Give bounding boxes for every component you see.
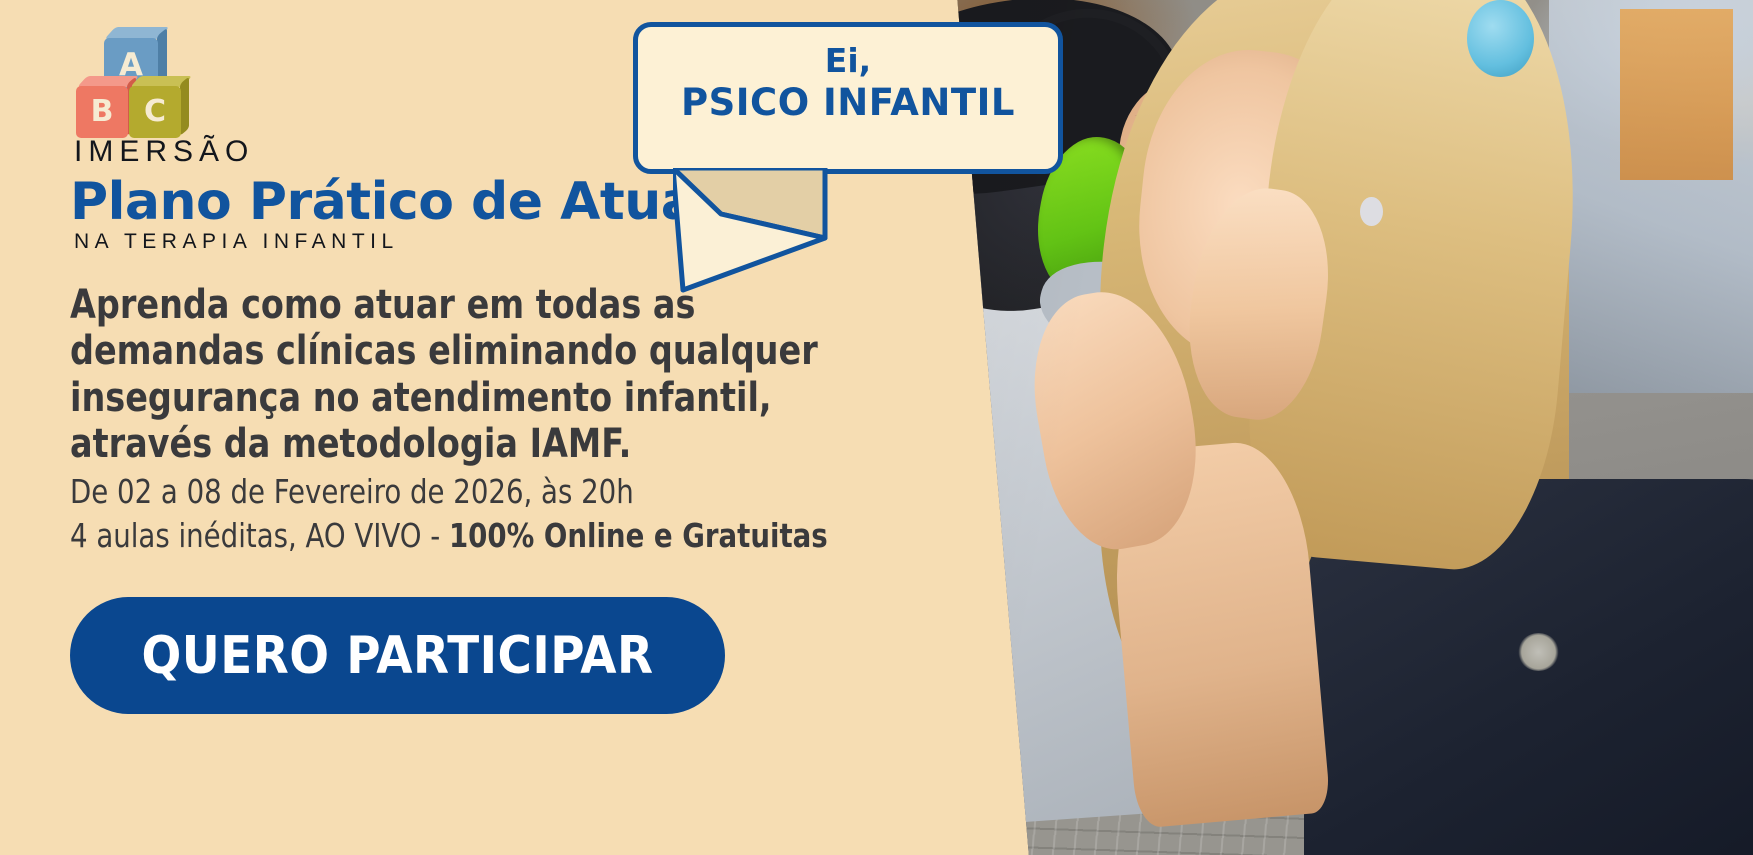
event-kicker: IMERSÃO xyxy=(74,135,254,169)
headline-block: Aprenda como atuar em todas as demandas … xyxy=(70,282,777,468)
block-c-letter: C xyxy=(129,86,181,138)
event-subkicker: NA TERAPIA INFANTIL xyxy=(74,230,399,254)
promo-banner: A B C IMERSÃO Plano Prático de Atuação N… xyxy=(0,0,1753,855)
event-details: De 02 a 08 de Fevereiro de 2026, às 20h … xyxy=(70,470,828,557)
event-format: 4 aulas inéditas, AO VIVO - 100% Online … xyxy=(70,514,828,558)
block-c-side-face xyxy=(180,76,189,136)
speech-bubble-text: Ei, PSICO INFANTIL xyxy=(633,42,1063,125)
event-format-highlight: 100% Online e Gratuitas xyxy=(449,516,828,555)
block-b-icon: B xyxy=(76,86,128,138)
speech-bubble-tail xyxy=(673,168,833,293)
headline-line-4: através da metodologia IAMF. xyxy=(70,421,777,467)
abc-blocks-logo: A B C xyxy=(74,30,192,142)
quero-participar-button[interactable]: QUERO PARTICIPAR xyxy=(70,597,725,714)
event-dates: De 02 a 08 de Fevereiro de 2026, às 20h xyxy=(70,470,828,514)
speech-bubble-line-2: PSICO INFANTIL xyxy=(633,81,1063,125)
block-c-icon: C xyxy=(129,86,181,138)
block-b-letter: B xyxy=(76,86,128,138)
speech-bubble-line-1: Ei, xyxy=(633,42,1063,81)
speech-bubble-tail-shape xyxy=(673,168,833,293)
event-format-prefix: 4 aulas inéditas, AO VIVO - xyxy=(70,516,449,555)
headline-line-3: insegurança no atendimento infantil, xyxy=(70,375,777,421)
speech-bubble: Ei, PSICO INFANTIL xyxy=(633,22,1063,292)
headline-line-2: demandas clínicas eliminando qualquer xyxy=(70,328,777,374)
